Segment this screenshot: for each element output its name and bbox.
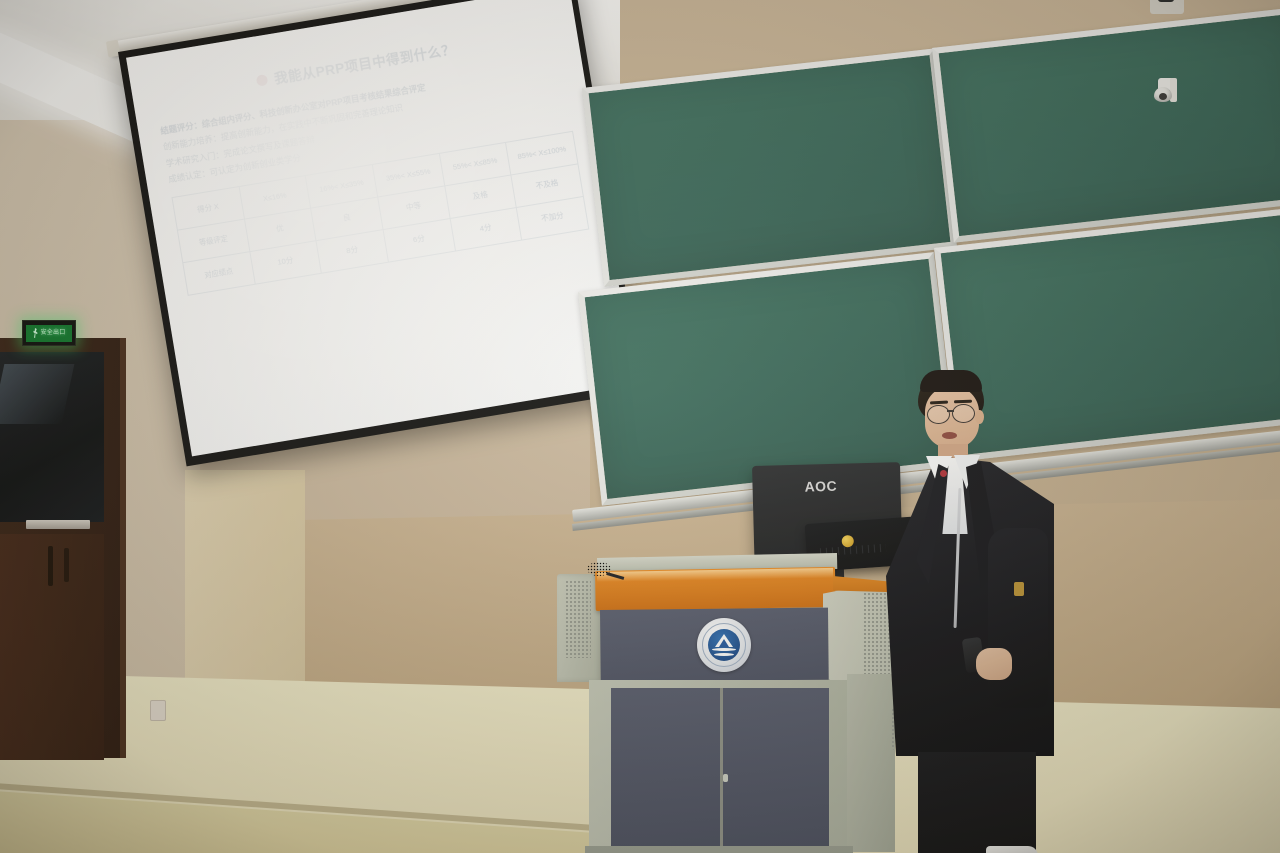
cabinet-lock-icon[interactable] [723,774,728,782]
lapel-pin-icon [940,470,947,477]
university-emblem-icon [697,618,751,672]
door-handle-secondary[interactable] [64,548,69,582]
running-person-icon [33,328,39,338]
podium-base [585,846,853,853]
microphone-icon[interactable] [587,562,613,578]
lecture-hall-photo: 安全出口 我能从PRP项目中得到什么？ 结题评分：综合组内评分、科技创新办公室对… [0,0,1280,853]
monitor-brand-label: AOC [804,478,837,495]
exit-sign-label: 安全出口 [41,330,66,336]
door-window [0,352,104,522]
slide-content: 我能从PRP项目中得到什么？ 结题评分：综合组内评分、科技创新办公室对PRP项目… [126,0,635,456]
emergency-exit-sign: 安全出口 [22,320,76,346]
hand [976,648,1012,680]
shoe [986,846,1038,853]
title-bullet-icon [256,74,269,87]
door-push-plate[interactable] [26,520,90,529]
right-arm [988,528,1048,708]
door-handle[interactable] [48,546,53,586]
eyeglasses-icon [927,405,950,424]
presenter [880,360,1060,853]
chalkboard-panel-upper-right [932,7,1280,243]
trousers [918,752,1036,853]
id-badge [1014,582,1024,596]
speaker-grille-left [565,580,591,658]
wall-outlet [150,700,166,721]
chalkboard-panel-upper-left [582,48,957,286]
security-camera-icon [1148,78,1178,104]
